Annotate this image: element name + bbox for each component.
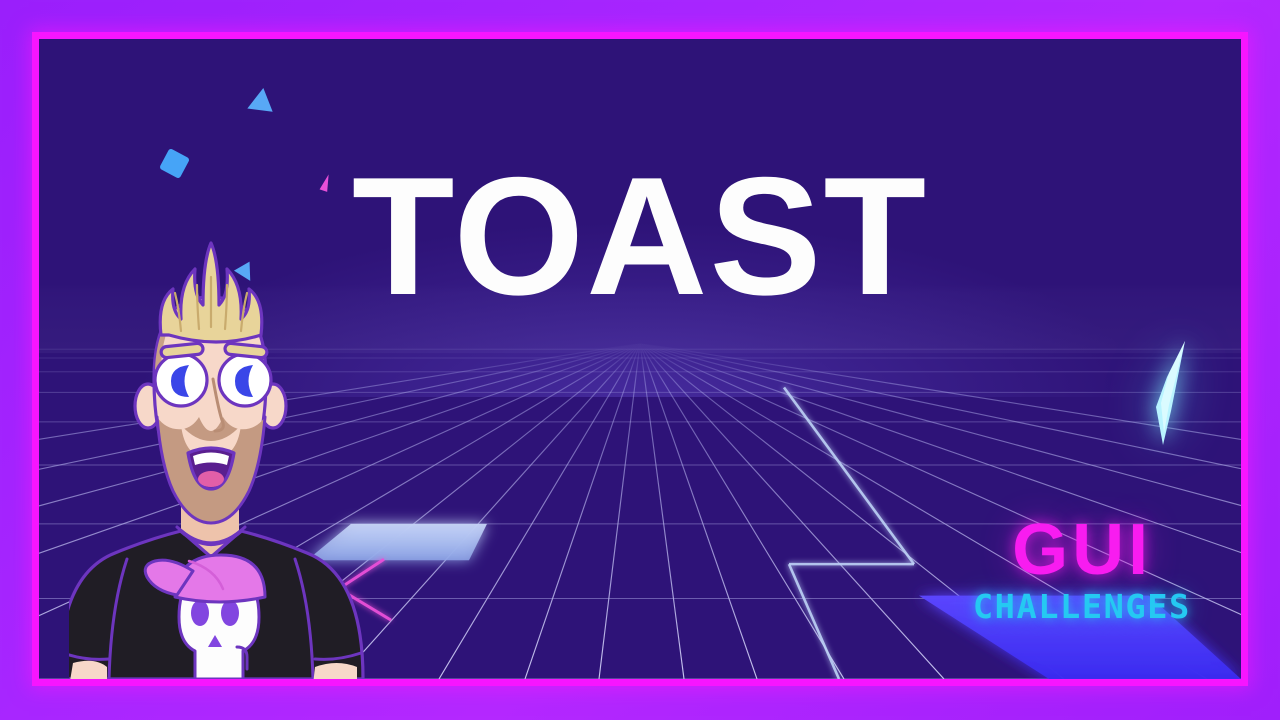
avatar <box>69 239 419 679</box>
cyan-shard-icon <box>1149 337 1195 449</box>
brand-logo-challenges: CHALLENGES <box>973 590 1191 623</box>
brand-logo-gui: GUI <box>975 514 1189 586</box>
video-thumbnail: TOAST GUI CHALLENGES <box>0 0 1280 720</box>
brand-logo: GUI CHALLENGES <box>975 514 1189 623</box>
grid-cell-right-outline <box>784 387 914 679</box>
scene: TOAST GUI CHALLENGES <box>39 39 1241 679</box>
neon-frame: TOAST GUI CHALLENGES <box>32 32 1248 686</box>
